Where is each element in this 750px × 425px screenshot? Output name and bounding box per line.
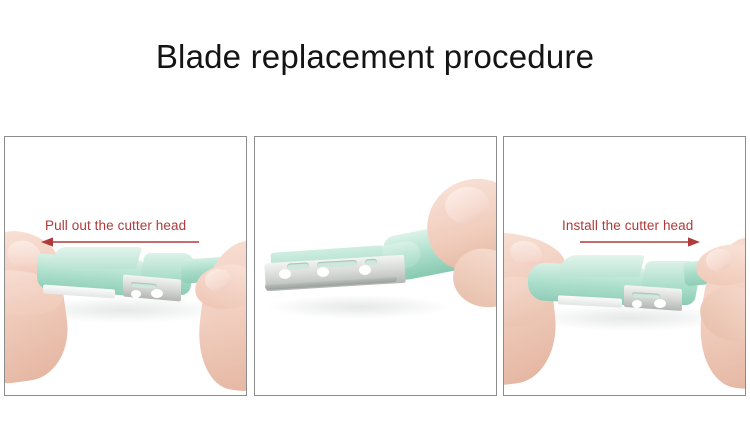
panel-row: Pull out the cutter head (4, 136, 746, 396)
caption-install: Install the cutter head (562, 218, 693, 233)
blade-notch (632, 300, 642, 308)
photo-pull-out: Pull out the cutter head (5, 137, 246, 395)
blade-notch (151, 289, 163, 298)
blade-notch (317, 267, 329, 277)
blade-notch (654, 299, 666, 308)
photo-detached-head (255, 137, 496, 395)
panel-pull-out: Pull out the cutter head (4, 136, 247, 396)
cutter-head-left-top (557, 255, 644, 277)
panel-detached-head (254, 136, 497, 396)
blade-notch (131, 290, 141, 298)
caption-pull-out: Pull out the cutter head (45, 218, 186, 233)
blade-notch (359, 265, 371, 275)
photo-install: Install the cutter head (504, 137, 745, 395)
arrow-right-icon (580, 235, 700, 249)
blade-notch (279, 269, 291, 279)
cutter-head-left-top (50, 247, 142, 269)
panel-install: Install the cutter head (503, 136, 746, 396)
page-title: Blade replacement procedure (0, 38, 750, 76)
object-shadow (269, 295, 449, 319)
arrow-left-icon (41, 235, 201, 249)
